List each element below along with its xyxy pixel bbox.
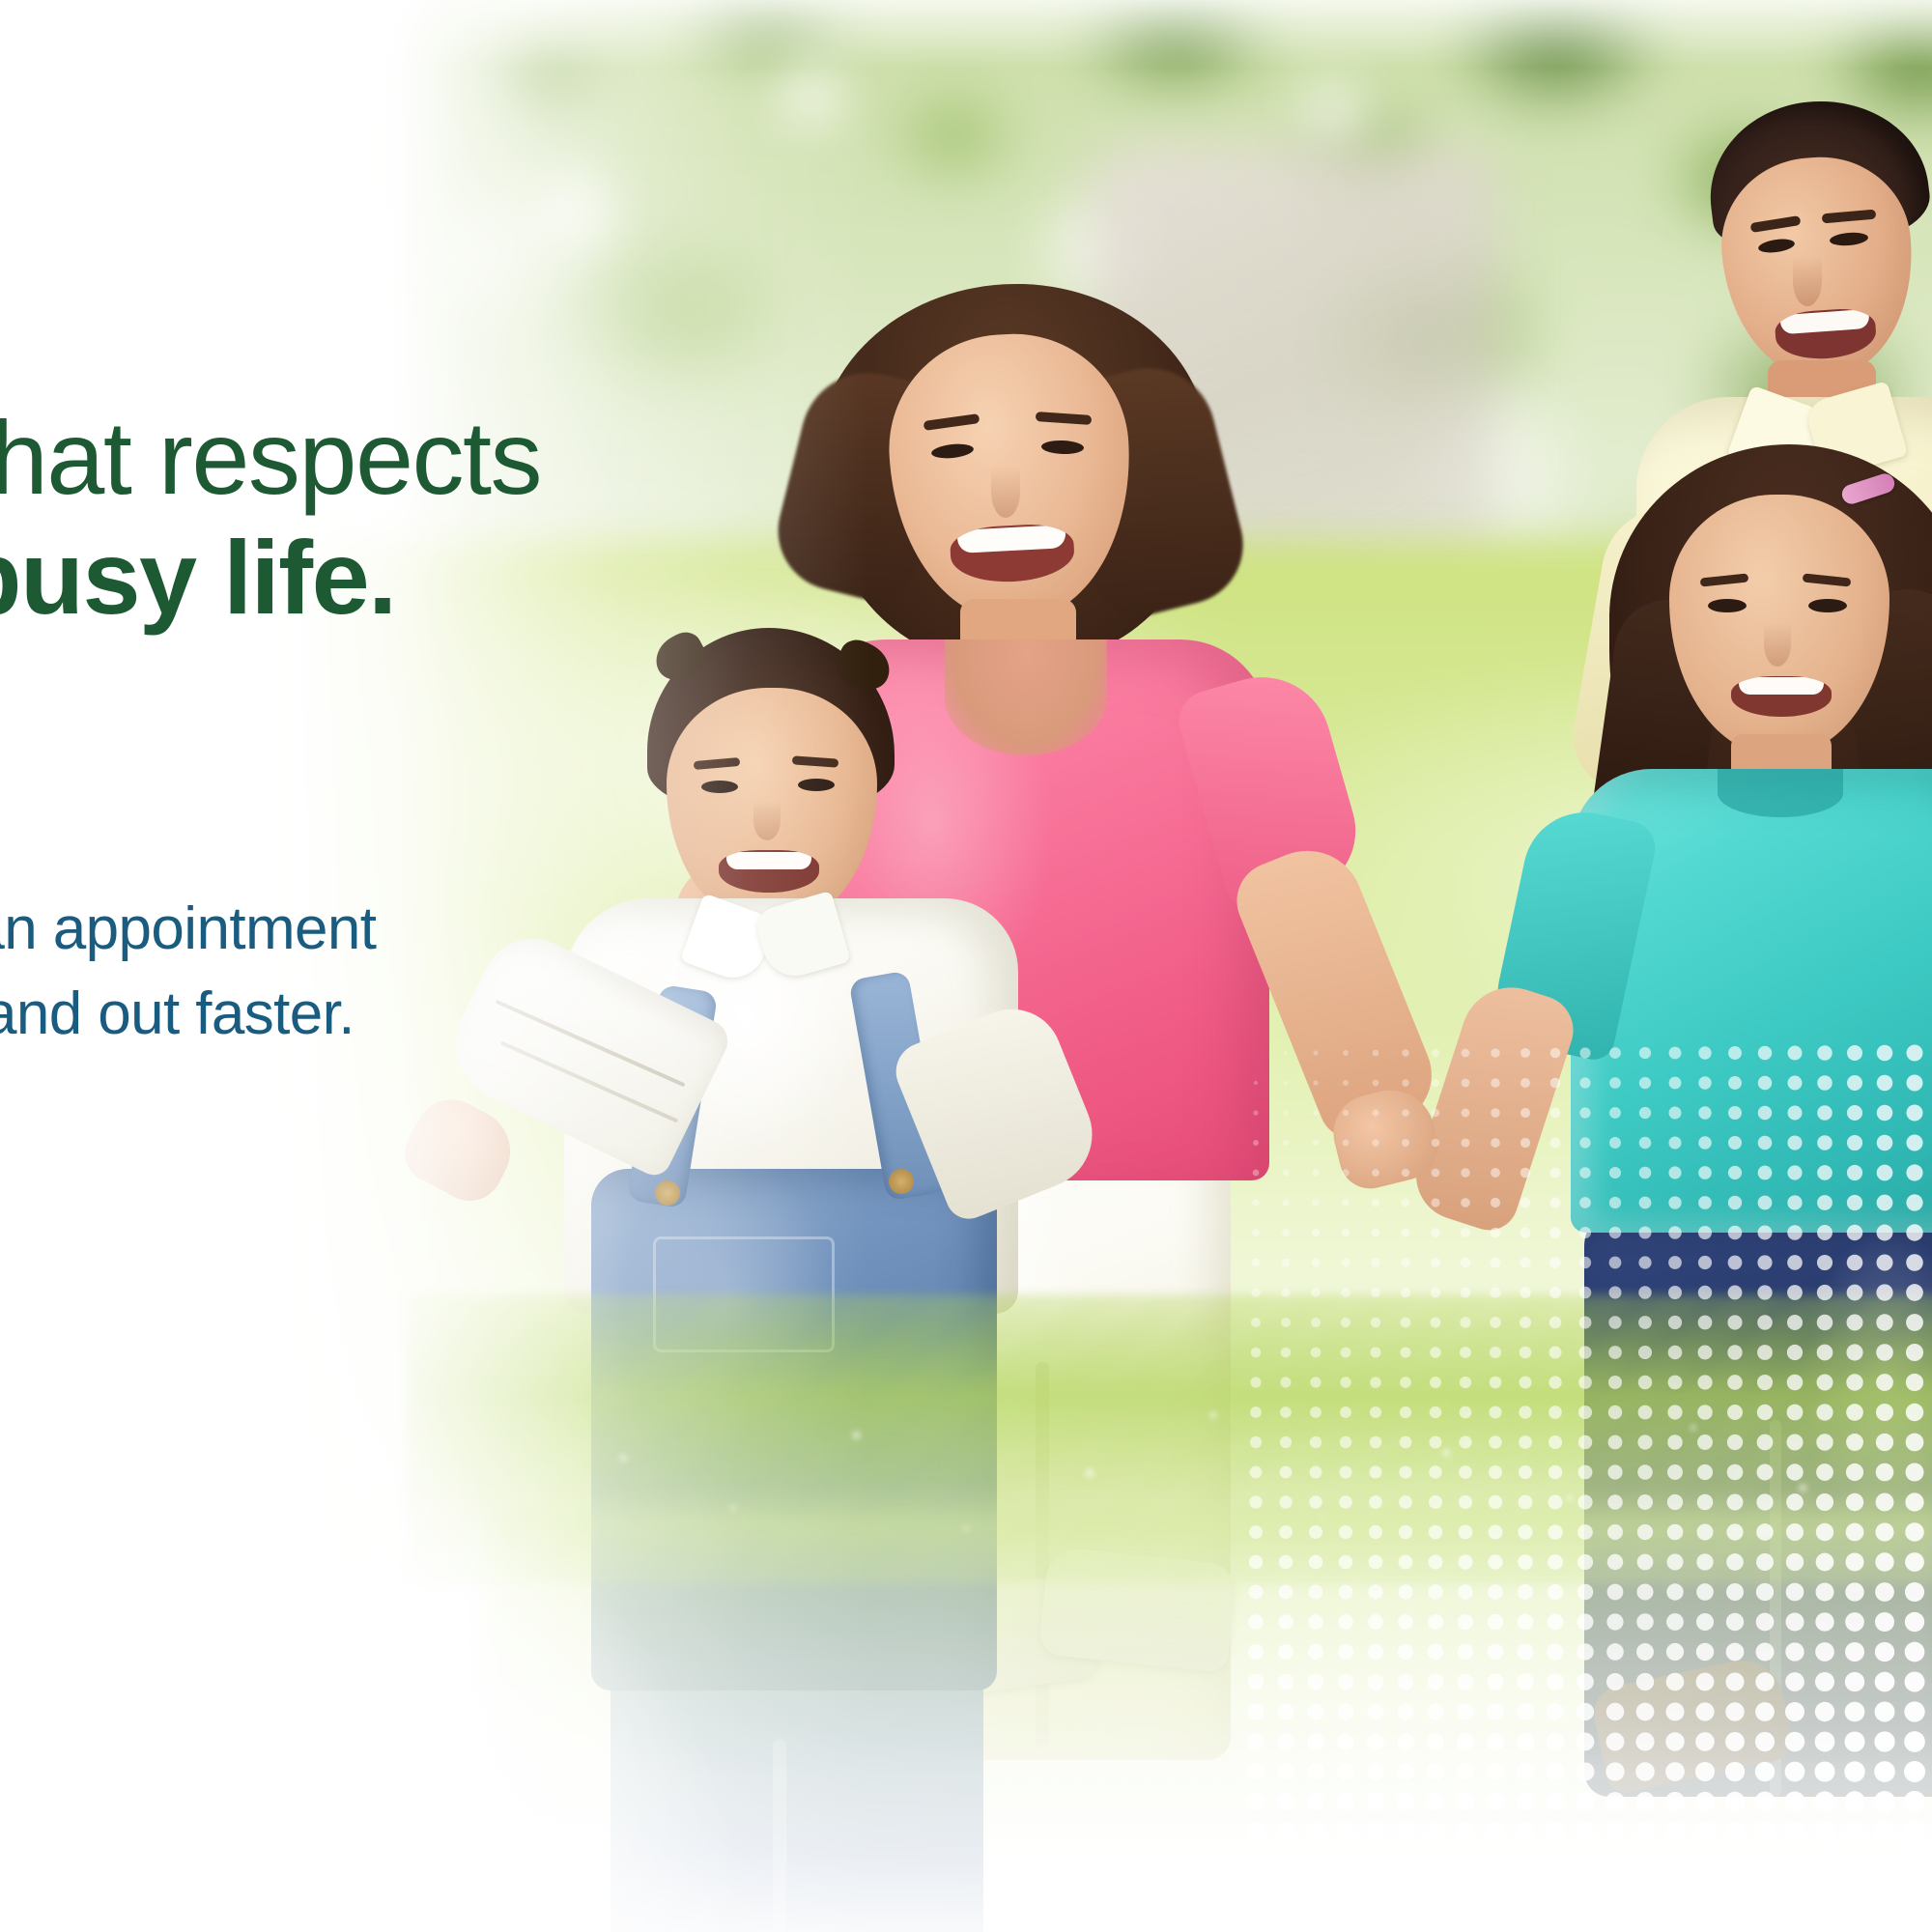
girl-teeth — [1739, 677, 1824, 695]
bottom-left-white-fade — [0, 1159, 1063, 1932]
mother-nose — [991, 466, 1020, 518]
subcopy-line-2: and get in and out faster. — [0, 972, 966, 1057]
girl-eye-right — [1808, 599, 1847, 612]
headline-line-2: your busy life. — [0, 518, 966, 638]
subcopy-line-1: Schedule an appointment — [0, 887, 966, 972]
girl-mouth — [1731, 676, 1832, 717]
hero-banner: A lab that respects your busy life. Sche… — [0, 0, 1932, 1932]
subcopy: Schedule an appointment and get in and o… — [0, 887, 966, 1057]
mother-teeth — [957, 525, 1066, 554]
headline-line-1: A lab that respects — [0, 398, 966, 518]
girl-eye-left — [1708, 599, 1747, 612]
headline: A lab that respects your busy life. — [0, 398, 966, 638]
girl-tee-neckline — [1718, 769, 1843, 817]
girl-nose — [1764, 622, 1791, 667]
father-nose — [1793, 256, 1822, 306]
